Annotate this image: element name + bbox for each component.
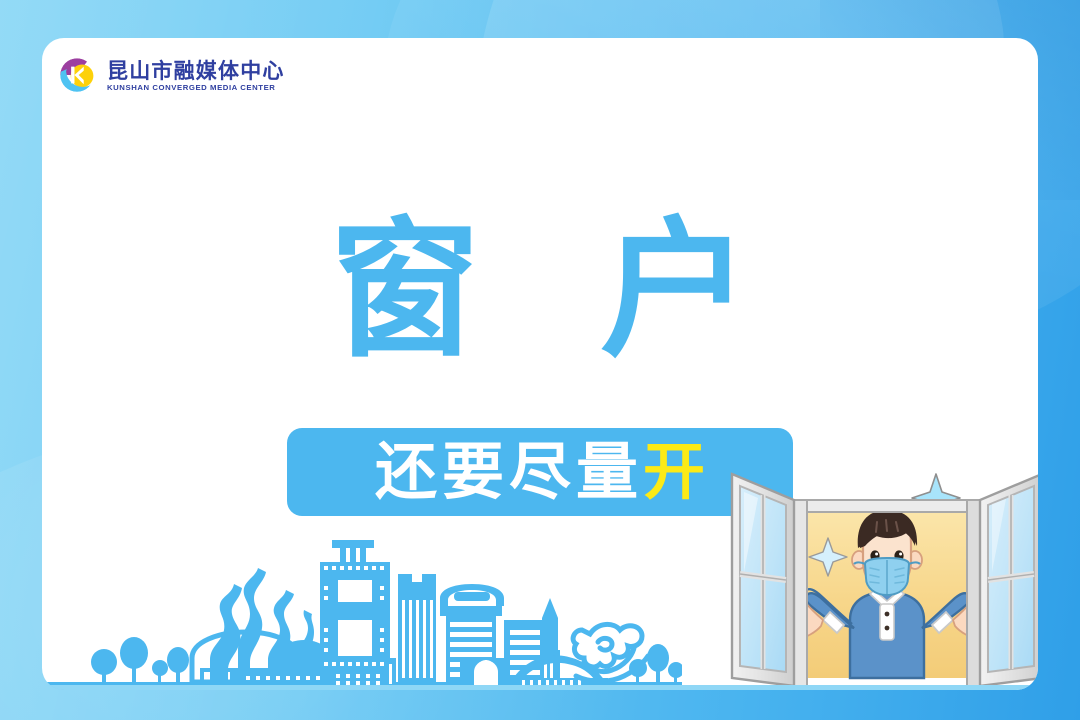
subtitle-banner: 还要尽量开	[287, 428, 793, 516]
kunshan-city-skyline-icon	[42, 510, 682, 690]
window-panel-left	[732, 474, 794, 686]
kunshan-media-circle-logo-icon	[56, 54, 98, 96]
subtitle-text-plain: 还要尽量	[375, 435, 643, 508]
window-panel-right	[980, 474, 1038, 686]
brand-name-cn: 昆山市融媒体中心	[107, 60, 285, 83]
brand-name-en: KUNSHAN CONVERGED MEDIA CENTER	[107, 84, 288, 92]
boy-opening-window-illustration	[724, 452, 1038, 690]
page-title: 窗 户	[42, 216, 1038, 366]
subtitle-text: 还要尽量开	[370, 441, 710, 503]
brand-wordmark: 昆山市融媒体中心 KUNSHAN CONVERGED MEDIA CENTER	[107, 59, 285, 91]
poster-card: 昆山市融媒体中心 KUNSHAN CONVERGED MEDIA CENTER …	[42, 38, 1038, 690]
card-bottom-strip	[42, 685, 1038, 690]
brand-logo: 昆山市融媒体中心 KUNSHAN CONVERGED MEDIA CENTER	[56, 54, 285, 96]
subtitle-text-highlight: 开	[643, 435, 710, 508]
